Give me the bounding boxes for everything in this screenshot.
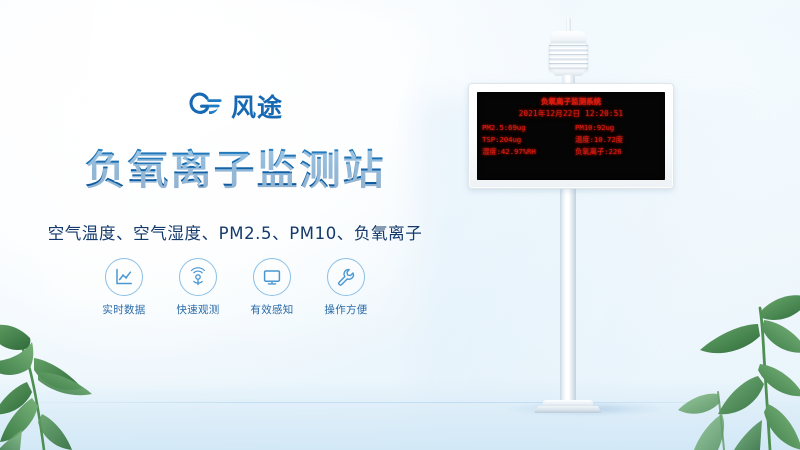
led-reading-pm25: PM2.5:69ug: [482, 122, 571, 134]
pole-flange-base: [534, 406, 602, 413]
monitor-icon: [253, 258, 291, 296]
feature-label: 操作方便: [324, 302, 367, 317]
led-title: 负氧离子监测系统: [482, 96, 660, 108]
led-datetime: 2021年12月22日 12:20:51: [482, 108, 660, 120]
led-reading-tsp: TSP:204ug: [482, 134, 571, 146]
led-reading-humidity: 湿度:42.97%RH: [482, 146, 571, 158]
brand-lockup: 风途: [0, 88, 470, 124]
led-display-screen: 负氧离子监测系统 2021年12月22日 12:20:51 PM2.5:69ug…: [477, 92, 665, 180]
wind-g-logo-icon: [187, 91, 223, 121]
feature-item-easy-operation[interactable]: 操作方便: [320, 258, 372, 317]
led-reading-row: PM2.5:69ug PM10:92ug: [482, 122, 660, 134]
led-reading-pm10: PM10:92ug: [571, 122, 660, 134]
poster-canvas: 风途 负氧离子监测站 空气温度、空气湿度、PM2.5、PM10、负氧离子 实时数…: [0, 0, 800, 450]
feature-label: 有效感知: [250, 302, 293, 317]
led-readings-grid: PM2.5:69ug PM10:92ug TSP:204ug 温度:10.72度…: [482, 122, 660, 158]
plant-decoration-right-back: [672, 340, 742, 450]
led-display-housing: 负氧离子监测系统 2021年12月22日 12:20:51 PM2.5:69ug…: [468, 83, 674, 189]
led-reading-negative-ion: 负氧离子:226: [571, 146, 660, 158]
page-title: 负氧离子监测站: [0, 136, 470, 196]
line-chart-icon: [105, 258, 143, 296]
radiation-shield-sensor: [549, 43, 588, 71]
radar-signal-icon: [179, 258, 217, 296]
hero-subtitle: 空气温度、空气湿度、PM2.5、PM10、负氧离子: [0, 220, 470, 244]
plant-decoration-left: [0, 302, 144, 450]
brand-name: 风途: [231, 88, 283, 124]
wrench-icon: [327, 258, 365, 296]
feature-label: 快速观测: [176, 302, 219, 317]
led-reading-row: 湿度:42.97%RH 负氧离子:226: [482, 146, 660, 158]
led-reading-row: TSP:204ug 温度:10.72度: [482, 134, 660, 146]
feature-item-fast-observation[interactable]: 快速观测: [172, 258, 224, 317]
feature-item-effective-sensing[interactable]: 有效感知: [246, 258, 298, 317]
led-reading-temperature: 温度:10.72度: [571, 134, 660, 146]
